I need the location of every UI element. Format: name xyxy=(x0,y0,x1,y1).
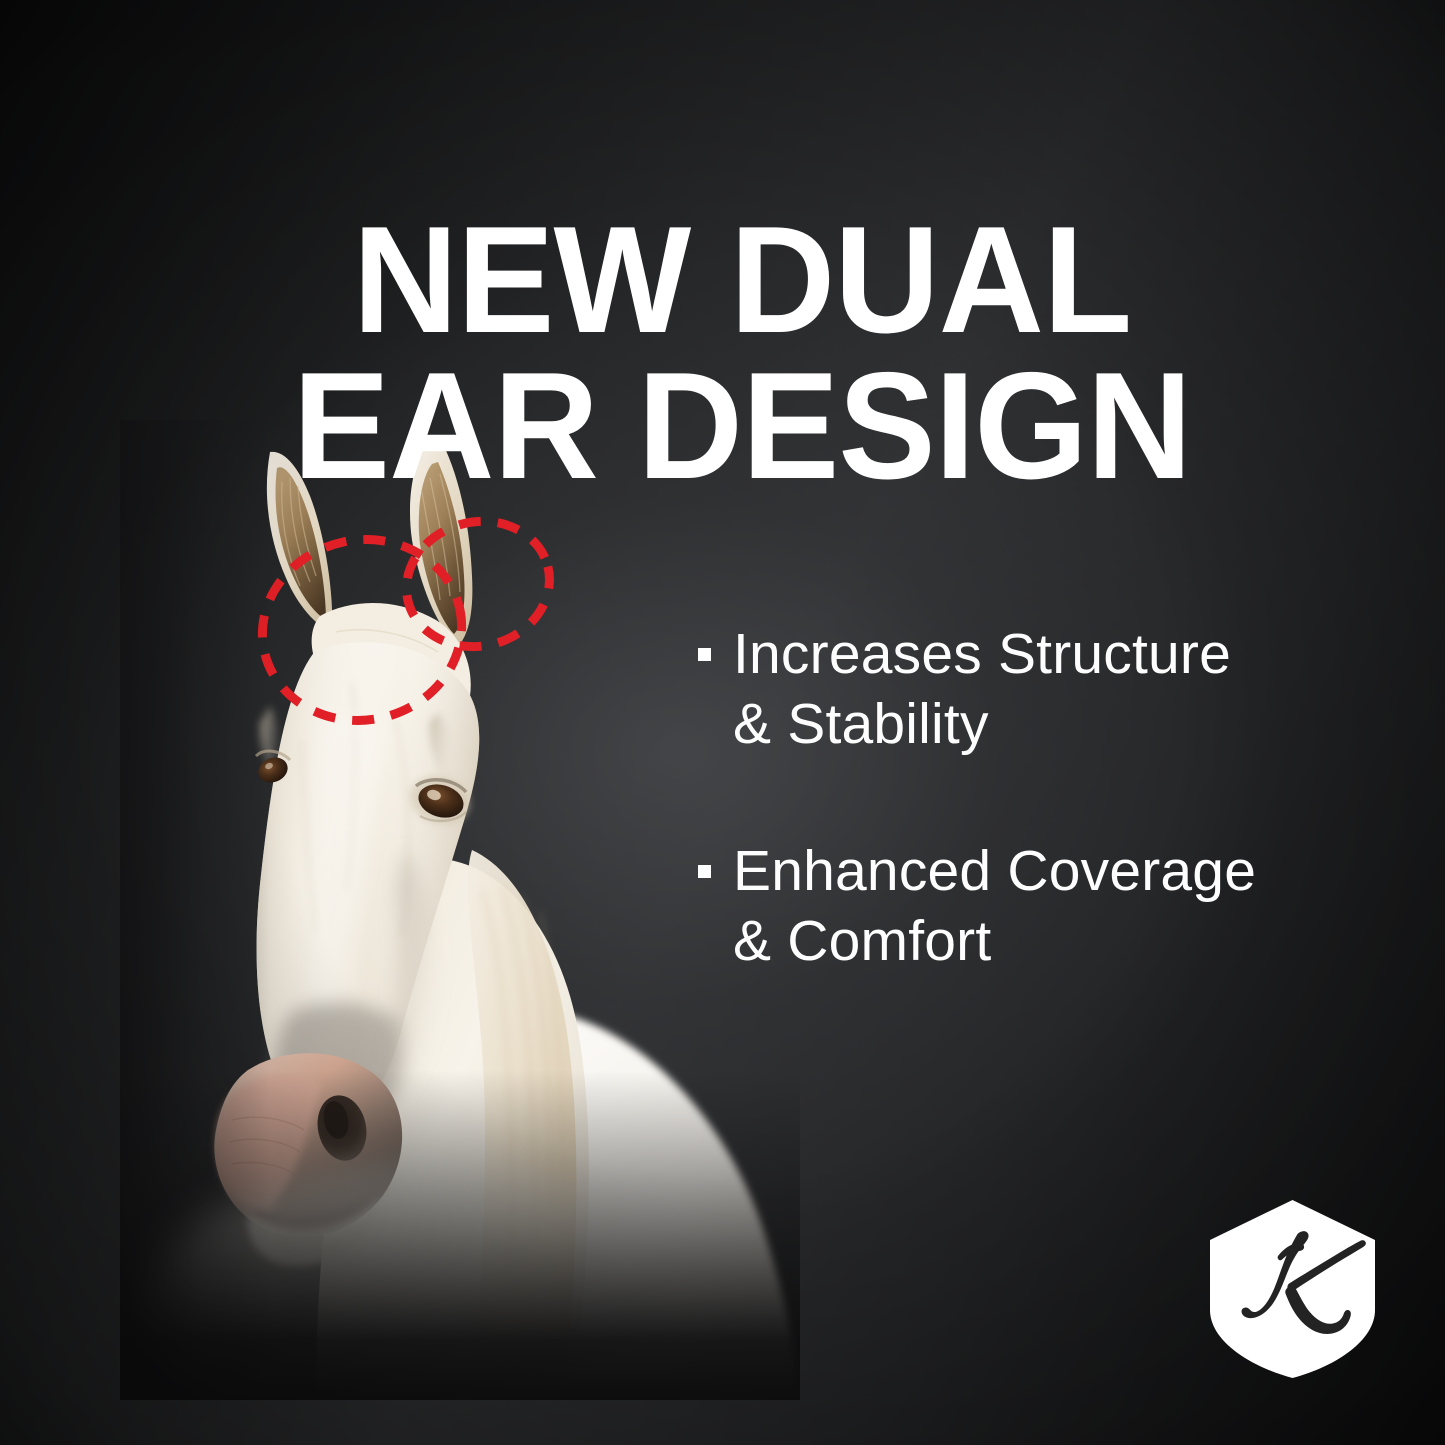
feature-label: Increases Structure & Stability xyxy=(733,620,1231,759)
promo-banner: NEW DUAL EAR DESIGN Increases Structure … xyxy=(0,0,1445,1445)
square-bullet-icon xyxy=(698,865,711,878)
brand-logo xyxy=(1205,1198,1380,1380)
list-item: Enhanced Coverage & Comfort xyxy=(698,837,1358,976)
shield-icon xyxy=(1205,1198,1380,1380)
page-title: NEW DUAL EAR DESIGN xyxy=(291,208,1193,500)
feature-label: Enhanced Coverage & Comfort xyxy=(733,837,1256,976)
square-bullet-icon xyxy=(698,648,711,661)
feature-list: Increases Structure & Stability Enhanced… xyxy=(698,620,1358,976)
list-item: Increases Structure & Stability xyxy=(698,620,1358,759)
